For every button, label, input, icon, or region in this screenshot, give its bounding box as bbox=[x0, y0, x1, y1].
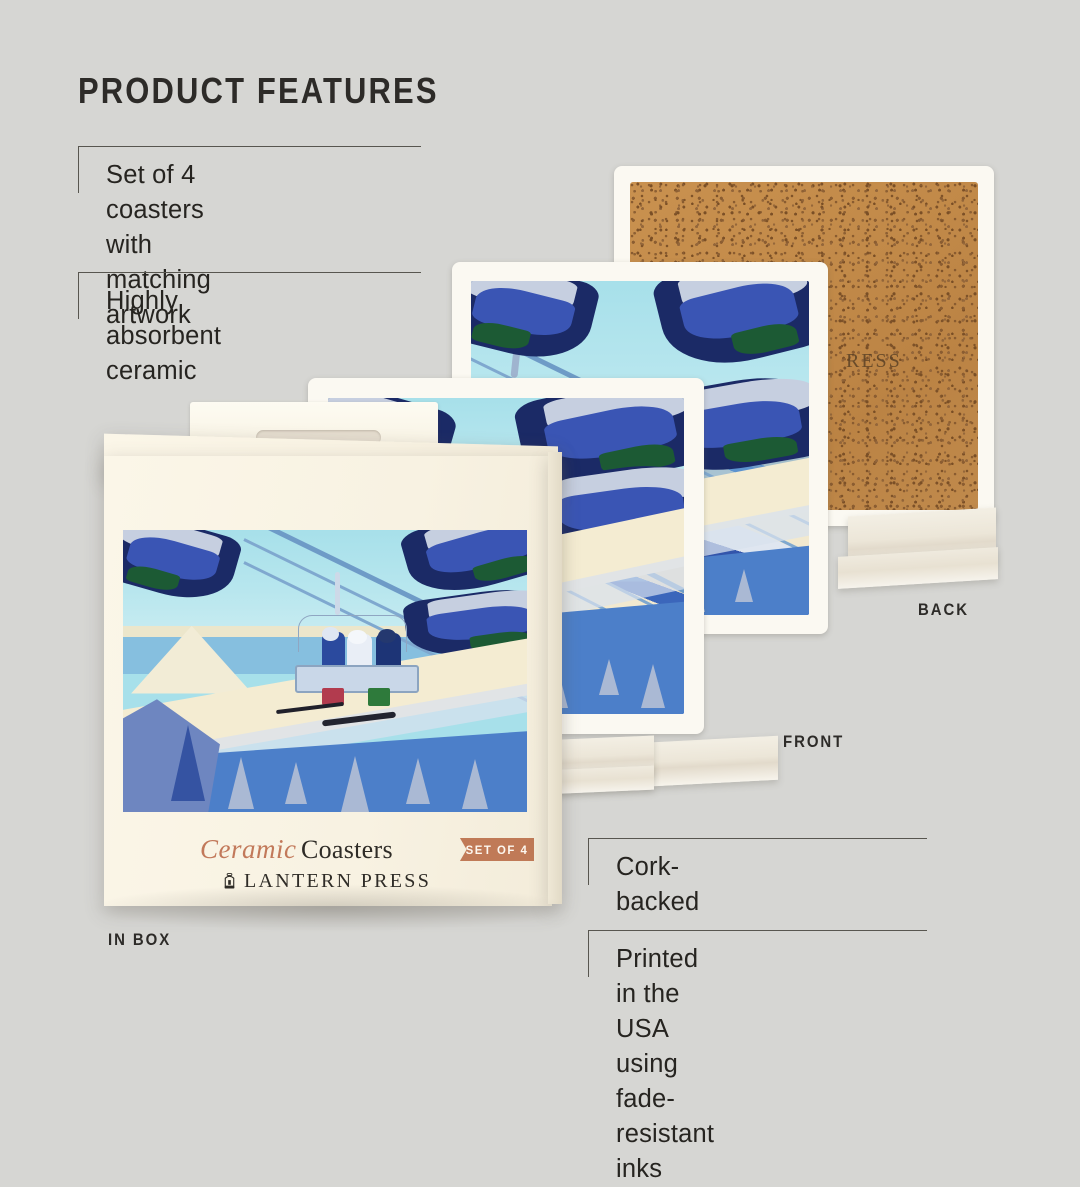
chairlift bbox=[289, 603, 443, 744]
caption-front: FRONT bbox=[783, 732, 844, 752]
box-side-face bbox=[548, 452, 562, 904]
conifer bbox=[735, 569, 753, 602]
company-label: LANTERN PRESS bbox=[244, 870, 431, 893]
box-window-artwork bbox=[123, 530, 527, 812]
chairlift-pole bbox=[335, 572, 340, 614]
conifer bbox=[341, 756, 369, 812]
feature-text: Cork-backed bbox=[616, 850, 699, 920]
rider-legs bbox=[368, 688, 389, 706]
conifer bbox=[171, 725, 205, 801]
box-company-name: LANTERN PRESS bbox=[222, 870, 431, 893]
product-features-graphic: RESS bbox=[0, 0, 1080, 1080]
conifer bbox=[599, 659, 619, 695]
page-title: PRODUCT FEATURES bbox=[78, 70, 439, 112]
caption-back: BACK bbox=[918, 600, 969, 620]
feature-text: Highly absorbent ceramic bbox=[106, 284, 221, 389]
ribbon-label: SET OF 4 bbox=[466, 843, 529, 857]
rider-helmet bbox=[378, 629, 396, 643]
set-of-4-ribbon: SET OF 4 bbox=[460, 838, 534, 861]
box-product-name: Ceramic Coasters bbox=[200, 834, 393, 865]
conifer bbox=[228, 757, 254, 809]
snowboard bbox=[322, 712, 396, 727]
box-front-face: Ceramic Coasters SET OF 4 bbox=[104, 456, 552, 906]
lantern-icon bbox=[222, 873, 237, 890]
cork-brand-text: RESS bbox=[846, 350, 902, 373]
conifer bbox=[406, 758, 430, 804]
caption-in-box: IN BOX bbox=[108, 930, 171, 950]
brand-script-word: Ceramic bbox=[200, 834, 296, 864]
conifer bbox=[285, 762, 307, 804]
brand-serif-word: Coasters bbox=[301, 835, 393, 864]
conifer bbox=[641, 664, 665, 708]
rider-helmet bbox=[348, 630, 366, 644]
chairlift-seat bbox=[295, 665, 419, 693]
feature-text: Printed in the USA using fade-resistant … bbox=[616, 942, 714, 1187]
conifer bbox=[462, 759, 488, 809]
